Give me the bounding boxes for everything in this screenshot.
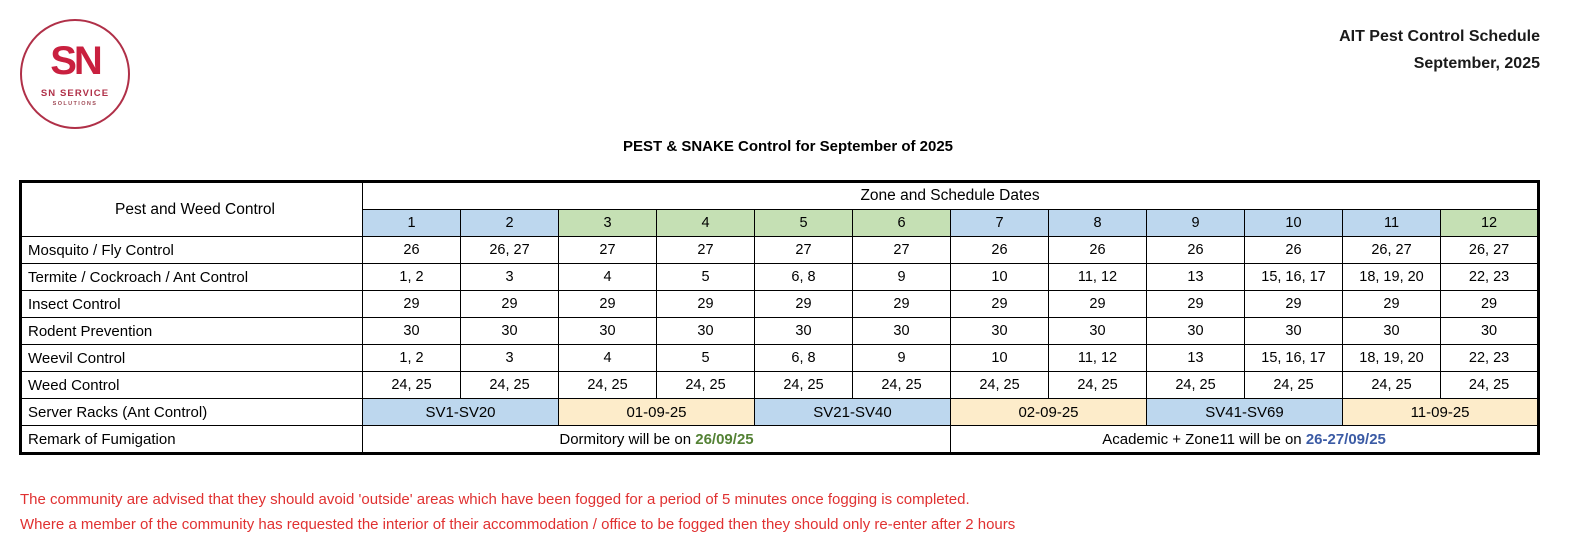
schedule-cell: 30: [657, 318, 755, 345]
logo-company-name: SN SERVICE: [20, 88, 130, 99]
schedule-cell: 30: [559, 318, 657, 345]
schedule-cell: 30: [951, 318, 1049, 345]
schedule-cell: 30: [1049, 318, 1147, 345]
server-rack-segment: 11-09-25: [1343, 399, 1539, 426]
schedule-cell: 29: [853, 291, 951, 318]
schedule-cell: 29: [951, 291, 1049, 318]
schedule-cell: 13: [1147, 264, 1245, 291]
schedule-cell: 24, 25: [559, 372, 657, 399]
schedule-cell: 27: [853, 237, 951, 264]
schedule-cell: 24, 25: [1441, 372, 1539, 399]
logo-monogram: SN: [20, 41, 130, 81]
table-corner-header: Pest and Weed Control: [21, 182, 363, 237]
document-period: September, 2025: [1339, 50, 1540, 77]
schedule-cell: 24, 25: [1049, 372, 1147, 399]
schedule-cell: 6, 8: [755, 264, 853, 291]
remark-row: Remark of FumigationDormitory will be on…: [21, 426, 1539, 454]
schedule-cell: 3: [461, 264, 559, 291]
schedule-cell: 30: [1245, 318, 1343, 345]
row-label: Weevil Control: [21, 345, 363, 372]
server-racks-row: Server Racks (Ant Control)SV1-SV2001-09-…: [21, 399, 1539, 426]
zone-header-7: 7: [951, 210, 1049, 237]
row-label: Mosquito / Fly Control: [21, 237, 363, 264]
schedule-cell: 29: [461, 291, 559, 318]
sn-service-logo: SN SN SERVICE SOLUTIONS: [20, 19, 130, 129]
schedule-cell: 24, 25: [657, 372, 755, 399]
schedule-cell: 4: [559, 264, 657, 291]
schedule-cell: 30: [461, 318, 559, 345]
schedule-cell: 1, 2: [363, 345, 461, 372]
remark-academic-text: Academic + Zone11 will be on: [1102, 431, 1306, 448]
schedule-cell: 10: [951, 345, 1049, 372]
schedule-cell: 11, 12: [1049, 264, 1147, 291]
zone-header-1: 1: [363, 210, 461, 237]
zone-header-9: 9: [1147, 210, 1245, 237]
schedule-cell: 26, 27: [1343, 237, 1441, 264]
row-label: Rodent Prevention: [21, 318, 363, 345]
schedule-cell: 13: [1147, 345, 1245, 372]
schedule-cell: 24, 25: [853, 372, 951, 399]
table-row: Weed Control24, 2524, 2524, 2524, 2524, …: [21, 372, 1539, 399]
schedule-cell: 1, 2: [363, 264, 461, 291]
schedule-cell: 29: [559, 291, 657, 318]
schedule-cell: 30: [363, 318, 461, 345]
schedule-cell: 5: [657, 345, 755, 372]
schedule-cell: 6, 8: [755, 345, 853, 372]
table-header-row-group: Pest and Weed Control Zone and Schedule …: [21, 182, 1539, 210]
document-title-block: AIT Pest Control Schedule September, 202…: [1339, 23, 1540, 77]
schedule-cell: 24, 25: [461, 372, 559, 399]
remark-academic-date: 26-27/09/25: [1306, 431, 1386, 448]
zone-header-5: 5: [755, 210, 853, 237]
schedule-cell: 26: [1049, 237, 1147, 264]
server-rack-segment: SV1-SV20: [363, 399, 559, 426]
zone-header-8: 8: [1049, 210, 1147, 237]
schedule-cell: 9: [853, 264, 951, 291]
page-header: SN SN SERVICE SOLUTIONS AIT Pest Control…: [0, 0, 1576, 128]
schedule-cell: 27: [657, 237, 755, 264]
schedule-cell: 29: [657, 291, 755, 318]
zone-header-2: 2: [461, 210, 559, 237]
server-rack-segment: 01-09-25: [559, 399, 755, 426]
schedule-cell: 29: [1245, 291, 1343, 318]
zone-header-6: 6: [853, 210, 951, 237]
schedule-cell: 30: [1441, 318, 1539, 345]
schedule-cell: 4: [559, 345, 657, 372]
schedule-cell: 26: [1245, 237, 1343, 264]
table-body: Mosquito / Fly Control2626, 272727272726…: [21, 237, 1539, 454]
pest-control-schedule-table: Pest and Weed Control Zone and Schedule …: [19, 180, 1540, 455]
remark-dormitory: Dormitory will be on 26/09/25: [363, 426, 951, 454]
schedule-cell: 11, 12: [1049, 345, 1147, 372]
schedule-cell: 26, 27: [461, 237, 559, 264]
schedule-cell: 27: [559, 237, 657, 264]
table-row: Rodent Prevention30303030303030303030303…: [21, 318, 1539, 345]
schedule-cell: 22, 23: [1441, 345, 1539, 372]
row-label: Server Racks (Ant Control): [21, 399, 363, 426]
row-label: Insect Control: [21, 291, 363, 318]
schedule-table-container: Pest and Weed Control Zone and Schedule …: [19, 180, 1537, 455]
schedule-cell: 30: [853, 318, 951, 345]
schedule-cell: 30: [755, 318, 853, 345]
row-label: Remark of Fumigation: [21, 426, 363, 454]
advisory-note-2: Where a member of the community has requ…: [20, 512, 1015, 537]
remark-academic: Academic + Zone11 will be on 26-27/09/25: [951, 426, 1539, 454]
schedule-cell: 24, 25: [1343, 372, 1441, 399]
remark-dormitory-date: 26/09/25: [695, 431, 753, 448]
schedule-cell: 29: [1441, 291, 1539, 318]
schedule-cell: 26: [951, 237, 1049, 264]
server-rack-segment: SV21-SV40: [755, 399, 951, 426]
schedule-cell: 3: [461, 345, 559, 372]
schedule-cell: 30: [1343, 318, 1441, 345]
zone-header-12: 12: [1441, 210, 1539, 237]
table-row: Insect Control292929292929292929292929: [21, 291, 1539, 318]
document-subtitle: PEST & SNAKE Control for September of 20…: [0, 138, 1576, 155]
schedule-cell: 29: [1147, 291, 1245, 318]
schedule-cell: 24, 25: [363, 372, 461, 399]
schedule-cell: 18, 19, 20: [1343, 264, 1441, 291]
table-row: Weevil Control1, 23456, 891011, 121315, …: [21, 345, 1539, 372]
schedule-cell: 15, 16, 17: [1245, 264, 1343, 291]
row-label: Weed Control: [21, 372, 363, 399]
zone-header-4: 4: [657, 210, 755, 237]
zone-header-10: 10: [1245, 210, 1343, 237]
schedule-cell: 26: [1147, 237, 1245, 264]
document-title: AIT Pest Control Schedule: [1339, 23, 1540, 50]
schedule-cell: 29: [1049, 291, 1147, 318]
server-rack-segment: 02-09-25: [951, 399, 1147, 426]
schedule-cell: 9: [853, 345, 951, 372]
logo-tagline: SOLUTIONS: [20, 101, 130, 107]
server-rack-segment: SV41-SV69: [1147, 399, 1343, 426]
zone-group-header: Zone and Schedule Dates: [363, 182, 1539, 210]
schedule-cell: 18, 19, 20: [1343, 345, 1441, 372]
schedule-cell: 30: [1147, 318, 1245, 345]
advisory-notes: The community are advised that they shou…: [20, 487, 1015, 537]
schedule-cell: 10: [951, 264, 1049, 291]
schedule-cell: 29: [363, 291, 461, 318]
schedule-cell: 29: [755, 291, 853, 318]
schedule-cell: 26, 27: [1441, 237, 1539, 264]
schedule-cell: 24, 25: [755, 372, 853, 399]
schedule-cell: 26: [363, 237, 461, 264]
zone-header-3: 3: [559, 210, 657, 237]
schedule-cell: 5: [657, 264, 755, 291]
row-label: Termite / Cockroach / Ant Control: [21, 264, 363, 291]
schedule-cell: 27: [755, 237, 853, 264]
zone-header-11: 11: [1343, 210, 1441, 237]
schedule-cell: 24, 25: [951, 372, 1049, 399]
schedule-cell: 24, 25: [1147, 372, 1245, 399]
remark-dormitory-text: Dormitory will be on: [559, 431, 695, 448]
schedule-cell: 29: [1343, 291, 1441, 318]
schedule-cell: 24, 25: [1245, 372, 1343, 399]
advisory-note-1: The community are advised that they shou…: [20, 487, 1015, 512]
schedule-cell: 22, 23: [1441, 264, 1539, 291]
table-row: Termite / Cockroach / Ant Control1, 2345…: [21, 264, 1539, 291]
table-row: Mosquito / Fly Control2626, 272727272726…: [21, 237, 1539, 264]
schedule-cell: 15, 16, 17: [1245, 345, 1343, 372]
